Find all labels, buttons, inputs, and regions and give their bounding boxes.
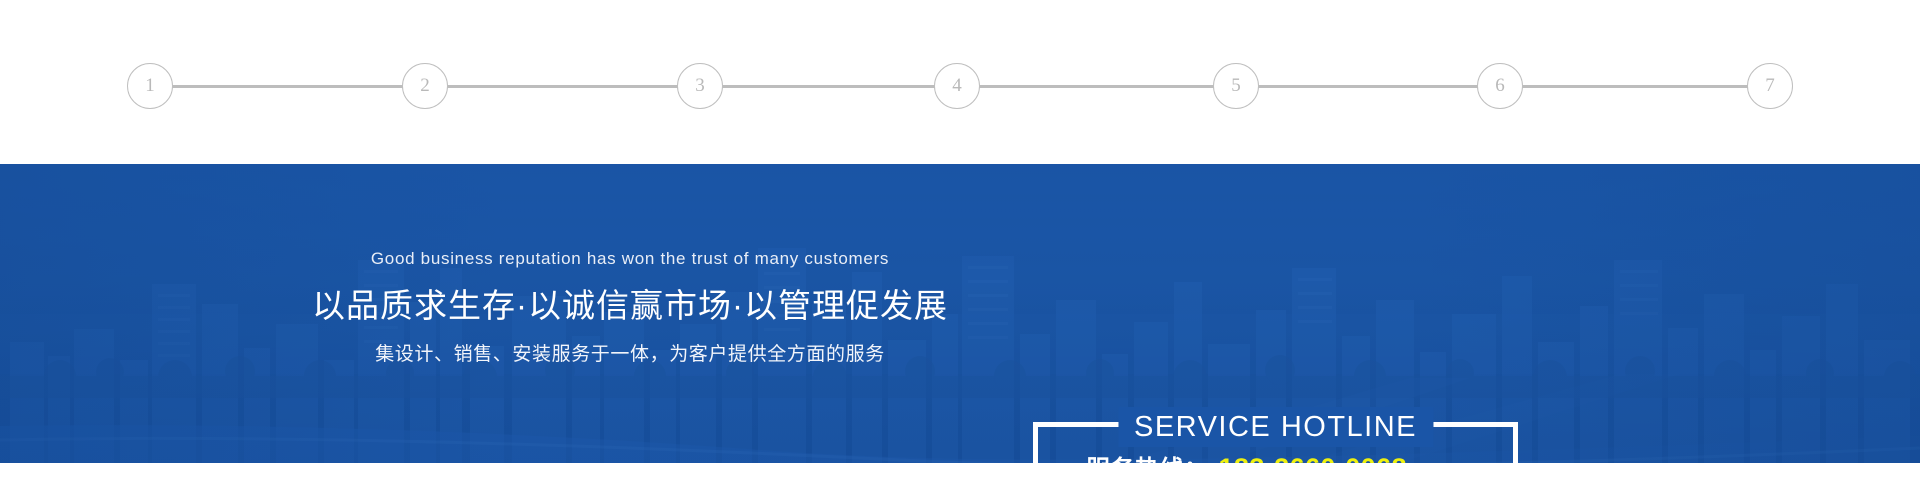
slogan-chinese-headline: 以品质求生存·以诚信赢市场·以管理促发展 (300, 289, 960, 322)
slogan-chinese-subtitle: 集设计、销售、安装服务于一体，为客户提供全方面的服务 (300, 345, 960, 364)
page-root: 1234567 (0, 0, 1920, 500)
hotline-rows: 服务热线： 183-2660-0068 服务热线： 0551-63749777 (1038, 455, 1513, 463)
hotline-number-primary[interactable]: 183-2660-0068 (1219, 455, 1407, 463)
step-node-5[interactable]: 5 (1213, 63, 1259, 109)
step-connector-line (1500, 85, 1770, 88)
step-connector-line (425, 85, 700, 88)
step-node-4[interactable]: 4 (934, 63, 980, 109)
step-node-3[interactable]: 3 (677, 63, 723, 109)
slogan-english: Good business reputation has won the tru… (300, 250, 960, 267)
step-connector-line (150, 85, 425, 88)
step-node-6[interactable]: 6 (1477, 63, 1523, 109)
hotline-label: 服务热线： (1086, 458, 1209, 463)
banner-overlay-shade (0, 164, 1920, 463)
service-hotline-box: SERVICE HOTLINE 服务热线： 183-2660-0068 服务热线… (1033, 422, 1518, 463)
promo-banner: Good business reputation has won the tru… (0, 164, 1920, 463)
hotline-title: SERVICE HOTLINE (1118, 407, 1433, 447)
step-node-1[interactable]: 1 (127, 63, 173, 109)
step-connector-line (700, 85, 957, 88)
step-node-2[interactable]: 2 (402, 63, 448, 109)
step-indicator: 1234567 (0, 0, 1920, 164)
step-connector-line (1236, 85, 1500, 88)
hotline-row: 服务热线： 183-2660-0068 (1086, 455, 1513, 463)
slogan-block: Good business reputation has won the tru… (300, 250, 960, 364)
step-connector-line (957, 85, 1236, 88)
step-node-7[interactable]: 7 (1747, 63, 1793, 109)
